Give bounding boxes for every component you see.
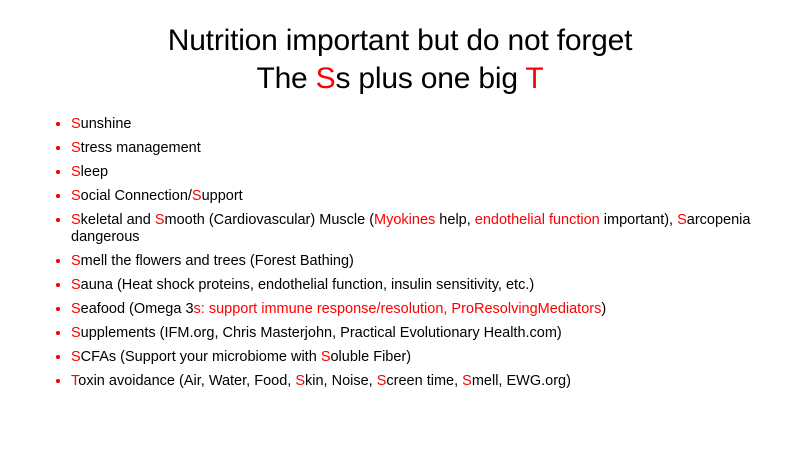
bullet-item: Sunshine (50, 116, 760, 133)
bullet-dot-icon (56, 379, 60, 383)
text-run: ) (601, 301, 606, 317)
text-run: s plus one big (335, 62, 525, 95)
bullet-item: Smell the flowers and trees (Forest Bath… (50, 253, 760, 270)
text-run: S (377, 373, 387, 389)
text-run: Myokines (374, 212, 435, 228)
bullet-dot-icon (56, 194, 60, 198)
bullet-item: Sleep (50, 164, 760, 181)
bullet-item-label: Social Connection/Support (71, 188, 760, 205)
text-run: S (71, 116, 81, 132)
text-run: oxin avoidance (Air, Water, Food, (78, 373, 295, 389)
bullet-dot-icon (56, 146, 60, 150)
bullet-item-label: Smell the flowers and trees (Forest Bath… (71, 253, 760, 270)
bullet-item: Supplements (IFM.org, Chris Masterjohn, … (50, 325, 760, 342)
bullet-dot-icon (56, 170, 60, 174)
text-run: T (525, 62, 543, 95)
bullet-item: Stress management (50, 140, 760, 157)
text-run: endothelial function (475, 212, 600, 228)
bullet-item-label: SCFAs (Support your microbiome with Solu… (71, 349, 760, 366)
text-run: ocial Connection/ (81, 188, 192, 204)
slide-canvas: Nutrition important but do not forget Th… (0, 0, 800, 450)
text-run: mell, EWG.org) (472, 373, 571, 389)
bullet-item: Sauna (Heat shock proteins, endothelial … (50, 277, 760, 294)
text-run: auna (Heat shock proteins, endothelial f… (81, 277, 535, 293)
bullet-list: SunshineStress managementSleepSocial Con… (50, 116, 760, 397)
bullet-dot-icon (56, 331, 60, 335)
text-run: S (677, 212, 687, 228)
text-run: The (256, 62, 315, 95)
bullet-item-label: Sunshine (71, 116, 760, 133)
bullet-item: SCFAs (Support your microbiome with Solu… (50, 349, 760, 366)
bullet-item-label: Toxin avoidance (Air, Water, Food, Skin,… (71, 373, 760, 390)
bullet-dot-icon (56, 307, 60, 311)
bullet-item-label: Skeletal and Smooth (Cardiovascular) Mus… (71, 212, 760, 246)
text-run: S (316, 62, 336, 95)
text-run: S (71, 188, 81, 204)
text-run: S (71, 164, 81, 180)
text-run: S (155, 212, 165, 228)
text-run: eafood (Omega 3 (81, 301, 194, 317)
text-run: S (462, 373, 472, 389)
text-run: help, (435, 212, 475, 228)
text-run: S (71, 349, 81, 365)
slide-title-line-1: Nutrition important but do not forget (40, 22, 760, 60)
bullet-item: Seafood (Omega 3s: support immune respon… (50, 301, 760, 318)
bullet-item: Social Connection/Support (50, 188, 760, 205)
text-run: kin, Noise, (305, 373, 377, 389)
text-run: S (71, 140, 81, 156)
bullet-item-label: Sauna (Heat shock proteins, endothelial … (71, 277, 760, 294)
bullet-item-label: Sleep (71, 164, 760, 181)
bullet-dot-icon (56, 283, 60, 287)
bullet-dot-icon (56, 122, 60, 126)
text-run: S (71, 325, 81, 341)
text-run: oluble Fiber) (330, 349, 411, 365)
text-run: important), (600, 212, 677, 228)
bullet-item-label: Seafood (Omega 3s: support immune respon… (71, 301, 760, 318)
text-run: mooth (Cardiovascular) Muscle ( (165, 212, 375, 228)
text-run: keletal and (81, 212, 155, 228)
text-run: S (71, 277, 81, 293)
bullet-item: Toxin avoidance (Air, Water, Food, Skin,… (50, 373, 760, 390)
bullet-dot-icon (56, 259, 60, 263)
text-run: upplements (IFM.org, Chris Masterjohn, P… (81, 325, 562, 341)
text-run: CFAs (Support your microbiome with (81, 349, 321, 365)
bullet-item-label: Stress management (71, 140, 760, 157)
text-run: upport (202, 188, 243, 204)
bullet-dot-icon (56, 218, 60, 222)
text-run: S (295, 373, 305, 389)
text-run: creen time, (386, 373, 462, 389)
slide-title: Nutrition important but do not forget Th… (40, 22, 760, 98)
text-run: S (71, 301, 81, 317)
text-run: s: support immune response/resolution, P… (194, 301, 602, 317)
bullet-item-label: Supplements (IFM.org, Chris Masterjohn, … (71, 325, 760, 342)
text-run: leep (81, 164, 108, 180)
text-run: S (71, 212, 81, 228)
text-run: unshine (81, 116, 132, 132)
text-run: S (71, 253, 81, 269)
slide-title-line-2: The Ss plus one big T (40, 60, 760, 98)
text-run: S (192, 188, 202, 204)
text-run: tress management (81, 140, 201, 156)
bullet-item: Skeletal and Smooth (Cardiovascular) Mus… (50, 212, 760, 246)
text-run: mell the flowers and trees (Forest Bathi… (81, 253, 354, 269)
bullet-dot-icon (56, 355, 60, 359)
